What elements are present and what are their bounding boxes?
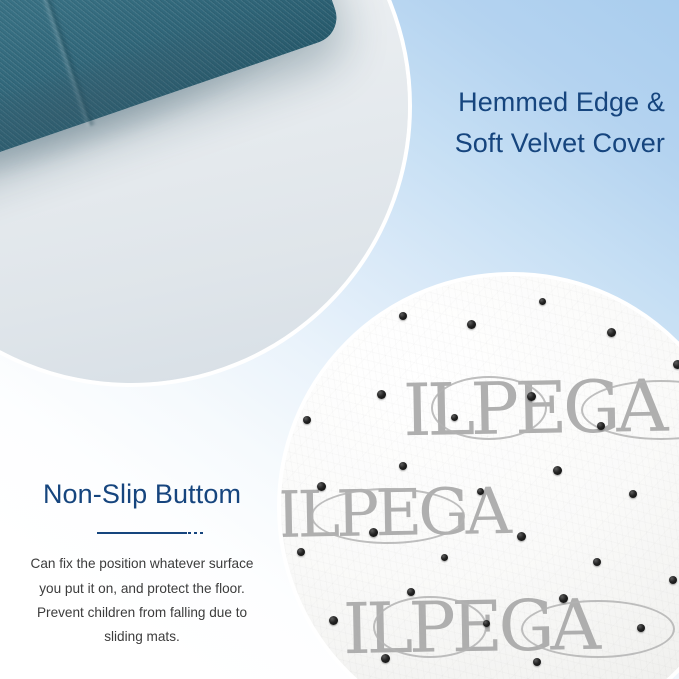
mat-brand-watermark: ILPEGA: [402, 370, 664, 447]
antislip-dot: [369, 528, 378, 537]
divider: [8, 522, 276, 544]
antislip-dot: [673, 360, 679, 369]
feature-block: Non-Slip Buttom Can fix the position wha…: [8, 478, 276, 649]
antislip-dot: [441, 554, 448, 561]
antislip-dot: [399, 462, 407, 470]
antislip-dot: [637, 624, 645, 632]
feature-body-line-2: you put it on, and protect the floor.: [8, 577, 276, 601]
feature-body-line-3: Prevent children from falling due to: [8, 601, 276, 625]
divider-solid-line: [97, 532, 187, 534]
antislip-dot: [669, 576, 677, 584]
divider-dotted-tail: [188, 532, 204, 534]
antislip-dot: [477, 488, 484, 495]
antislip-dot: [607, 328, 616, 337]
antislip-dot: [381, 654, 390, 663]
antislip-dot: [303, 416, 311, 424]
antislip-dot: [329, 616, 338, 625]
antislip-dot: [483, 620, 490, 627]
antislip-dot: [553, 466, 562, 475]
antislip-dot: [467, 320, 476, 329]
mat-brand-watermark: ILPEGA: [277, 480, 508, 548]
antislip-dot: [317, 482, 326, 491]
feature-body: Can fix the position whatever surface yo…: [8, 552, 276, 649]
antislip-dot: [407, 588, 415, 596]
antislip-dot: [629, 490, 637, 498]
feature-title: Non-Slip Buttom: [8, 478, 276, 510]
antislip-dot: [539, 298, 546, 305]
antislip-dot: [593, 558, 601, 566]
antislip-dot: [527, 392, 536, 401]
headline: Hemmed Edge & Soft Velvet Cover: [335, 82, 665, 164]
antislip-dot: [517, 532, 526, 541]
headline-line-2: Soft Velvet Cover: [335, 123, 665, 164]
antislip-dot: [559, 594, 568, 603]
antislip-dot: [297, 548, 305, 556]
antislip-dot: [333, 340, 341, 348]
product-feature-graphic: ILPEGA ILPEGA ILPEGA: [0, 0, 679, 679]
antislip-dot: [597, 422, 605, 430]
headline-line-1: Hemmed Edge &: [335, 82, 665, 123]
antislip-dot: [399, 312, 407, 320]
feature-body-line-1: Can fix the position whatever surface: [8, 552, 276, 576]
antislip-dot: [377, 390, 386, 399]
antislip-dot: [533, 658, 541, 666]
feature-body-line-4: sliding mats.: [8, 625, 276, 649]
antislip-dot: [451, 414, 458, 421]
nonslip-mat-photo-circle: ILPEGA ILPEGA ILPEGA: [277, 272, 679, 679]
